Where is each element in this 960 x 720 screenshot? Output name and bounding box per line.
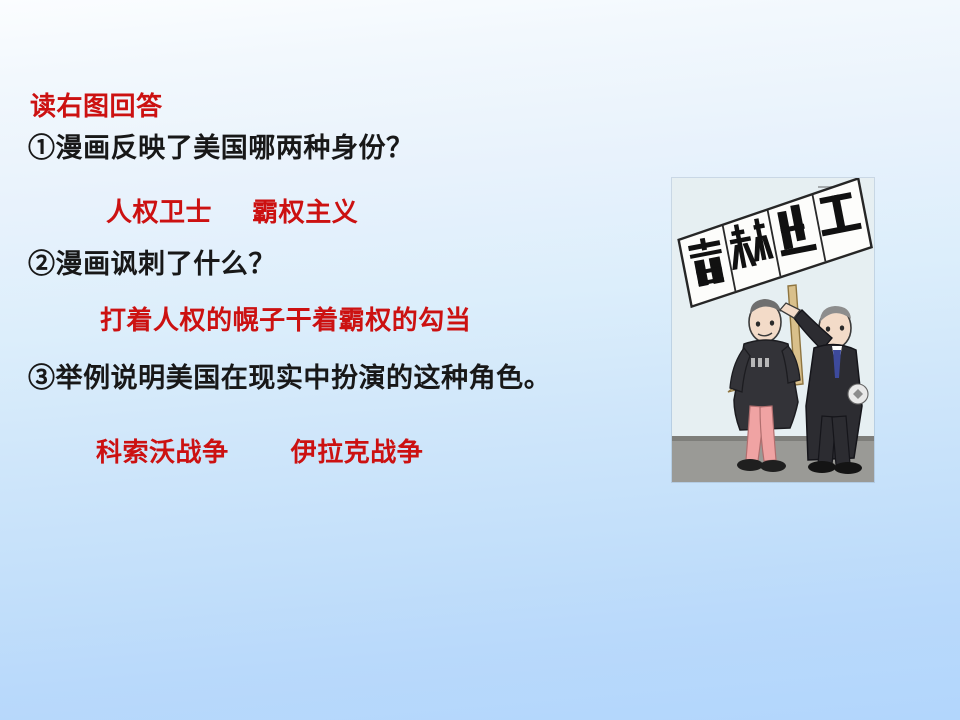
answer-1-part-1: 人权卫士	[106, 198, 212, 227]
question-item-1: ①漫画反映了美国哪两种身份？	[28, 126, 414, 165]
political-cartoon-image	[672, 178, 874, 482]
page-title: 读右图回答	[30, 86, 163, 123]
slide-root: 读右图回答 ①漫画反映了美国哪两种身份？ 人权卫士 霸权主义 ②漫画讽刺了什么？…	[0, 0, 960, 720]
answer-3-part-1: 科索沃战争	[96, 438, 229, 467]
answer-3-part-2: 伊拉克战争	[291, 438, 424, 467]
cartoon-usa-label	[751, 358, 769, 367]
question-item-3: ③举例说明美国在现实中扮演的这种角色。	[28, 356, 551, 395]
question-item-2: ②漫画讽刺了什么？	[28, 242, 276, 281]
answer-item-3: 科索沃战争 伊拉克战争	[96, 432, 423, 469]
text-content-block: 读右图回答 ①漫画反映了美国哪两种身份？ 人权卫士 霸权主义 ②漫画讽刺了什么？…	[0, 0, 660, 720]
answer-1-part-2: 霸权主义	[252, 198, 358, 227]
answer-item-1: 人权卫士 霸权主义	[106, 192, 358, 229]
answer-item-2: 打着人权的幌子干着霸权的勾当	[100, 300, 471, 337]
